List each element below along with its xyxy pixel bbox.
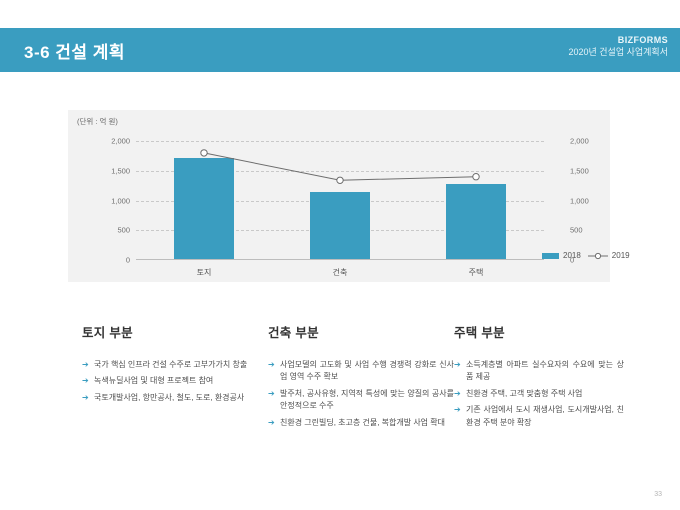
line-path	[204, 153, 476, 180]
arrow-right-icon: ➔	[268, 388, 275, 400]
column-land: 토지 부분 ➔국가 핵심 인프라 건설 수주로 고부가가치 창출➔녹색뉴딜사업 …	[82, 322, 268, 433]
column-housing: 주택 부분 ➔소득계층별 아파트 실수요자의 수요에 맞는 상품 제공➔친환경 …	[454, 322, 624, 433]
bullet-text: 친환경 주택, 고객 맞춤형 주택 사업	[466, 389, 582, 398]
header-band: 3-6 건설 계획 BIZFORMS 2020년 건설업 사업계획서	[0, 28, 680, 72]
line-data-point	[337, 177, 343, 183]
column-construction: 건축 부분 ➔사업모델의 고도화 및 사업 수행 경쟁력 강화로 신사업 영역 …	[268, 322, 454, 433]
chart-legend: 2018 2019	[542, 251, 630, 260]
arrow-right-icon: ➔	[454, 404, 461, 416]
y-axis-tick-label-right: 1,000	[570, 196, 589, 205]
bullet-item: ➔소득계층별 아파트 실수요자의 수요에 맞는 상품 제공	[454, 359, 624, 384]
bullet-list: ➔국가 핵심 인프라 건설 수주로 고부가가치 창출➔녹색뉴딜사업 및 대형 프…	[82, 359, 268, 404]
bullet-text: 친환경 그린빌딩, 초고층 건물, 복합개발 사업 확대	[280, 418, 445, 427]
x-axis-tick-label: 건축	[333, 267, 348, 278]
bullet-text: 국가 핵심 인프라 건설 수주로 고부가가치 창출	[94, 360, 247, 369]
y-axis-tick-label-right: 2,000	[570, 137, 589, 146]
arrow-right-icon: ➔	[82, 359, 89, 371]
y-axis-tick-label: 1,000	[111, 196, 130, 205]
chart-unit-label: (단위 : 억 원)	[77, 116, 118, 127]
page-title: 3-6 건설 계획	[24, 38, 125, 63]
y-axis-tick-label: 500	[117, 226, 130, 235]
y-axis-tick-label: 1,500	[111, 166, 130, 175]
legend-label-2018: 2018	[563, 251, 581, 260]
legend-item-2018: 2018	[542, 251, 581, 260]
legend-line-marker-icon	[588, 252, 608, 260]
column-heading: 주택 부분	[454, 322, 624, 341]
bullet-text: 기존 사업에서 도시 재생사업, 도시개발사업, 친환경 주택 분야 확장	[466, 405, 624, 426]
chart-bar	[446, 184, 506, 260]
bullet-list: ➔소득계층별 아파트 실수요자의 수요에 맞는 상품 제공➔친환경 주택, 고객…	[454, 359, 624, 429]
page-number: 33	[654, 491, 662, 498]
column-heading: 건축 부분	[268, 322, 454, 341]
chart-panel: (단위 : 억 원) 05001,0001,5002,000 05001,000…	[68, 110, 610, 282]
x-axis-tick-label: 주택	[469, 267, 484, 278]
line-data-point	[473, 174, 479, 180]
arrow-right-icon: ➔	[454, 359, 461, 371]
arrow-right-icon: ➔	[268, 359, 275, 371]
bullet-item: ➔친환경 그린빌딩, 초고층 건물, 복합개발 사업 확대	[268, 417, 454, 429]
legend-item-2019: 2019	[588, 251, 630, 260]
bullet-item: ➔기존 사업에서 도시 재생사업, 도시개발사업, 친환경 주택 분야 확장	[454, 404, 624, 429]
bullet-text: 발주처, 공사유형, 지역적 특성에 맞는 양질의 공사를 안정적으로 수주	[280, 389, 454, 410]
y-axis-tick-label-right: 1,500	[570, 166, 589, 175]
bullet-text: 소득계층별 아파트 실수요자의 수요에 맞는 상품 제공	[466, 360, 624, 381]
content-columns: 토지 부분 ➔국가 핵심 인프라 건설 수주로 고부가가치 창출➔녹색뉴딜사업 …	[0, 322, 680, 433]
gridline	[136, 141, 544, 142]
bullet-item: ➔친환경 주택, 고객 맞춤형 주택 사업	[454, 388, 624, 400]
bullet-item: ➔사업모델의 고도화 및 사업 수행 경쟁력 강화로 신사업 영역 수주 확보	[268, 359, 454, 384]
bullet-item: ➔녹색뉴딜사업 및 대형 프로젝트 참여	[82, 375, 268, 387]
bullet-item: ➔발주처, 공사유형, 지역적 특성에 맞는 양질의 공사를 안정적으로 수주	[268, 388, 454, 413]
chart-bar	[310, 192, 370, 260]
column-heading: 토지 부분	[82, 322, 268, 341]
y-axis-tick-label-right: 500	[570, 226, 583, 235]
bullet-item: ➔국가 핵심 인프라 건설 수주로 고부가가치 창출	[82, 359, 268, 371]
bullet-item: ➔국토개발사업, 항만공사, 철도, 도로, 환경공사	[82, 392, 268, 404]
line-data-point	[201, 150, 207, 156]
legend-bar-swatch-icon	[542, 253, 559, 259]
bullet-list: ➔사업모델의 고도화 및 사업 수행 경쟁력 강화로 신사업 영역 수주 확보➔…	[268, 359, 454, 429]
arrow-right-icon: ➔	[82, 392, 89, 404]
brand-block: BIZFORMS 2020년 건설업 사업계획서	[568, 34, 668, 58]
arrow-right-icon: ➔	[268, 417, 275, 429]
brand-name: BIZFORMS	[568, 34, 668, 46]
bullet-text: 녹색뉴딜사업 및 대형 프로젝트 참여	[94, 376, 213, 385]
arrow-right-icon: ➔	[82, 375, 89, 387]
chart-plot-area: 05001,0001,5002,000 05001,0001,5002,000 …	[136, 141, 544, 260]
chart-bar	[174, 158, 234, 260]
chart-axis-baseline	[136, 259, 544, 260]
arrow-right-icon: ➔	[454, 388, 461, 400]
legend-label-2019: 2019	[612, 251, 630, 260]
y-axis-tick-label: 0	[126, 256, 130, 265]
x-axis-tick-label: 토지	[197, 267, 212, 278]
bullet-text: 사업모델의 고도화 및 사업 수행 경쟁력 강화로 신사업 영역 수주 확보	[280, 360, 454, 381]
y-axis-tick-label: 2,000	[111, 137, 130, 146]
brand-subtitle: 2020년 건설업 사업계획서	[568, 46, 668, 58]
bullet-text: 국토개발사업, 항만공사, 철도, 도로, 환경공사	[94, 393, 244, 402]
